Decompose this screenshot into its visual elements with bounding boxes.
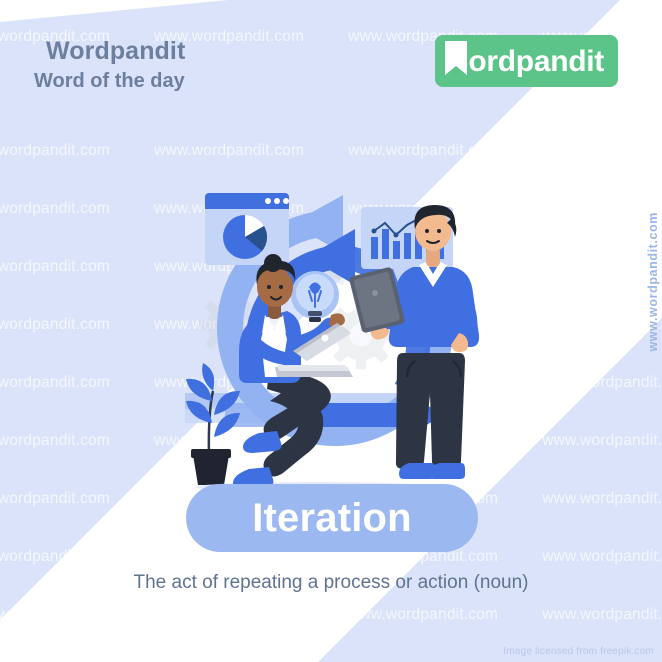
side-watermark: www.wordpandit.com (646, 212, 660, 352)
wordpandit-logo[interactable]: ordpandit (435, 35, 618, 87)
logo-wordmark: ordpandit (468, 47, 604, 77)
header-title-block: Wordpandit Word of the day (46, 38, 185, 92)
word-text: Iteration (252, 498, 412, 538)
page-title: Wordpandit (46, 38, 185, 66)
word-definition: The act of repeating a process or action… (0, 572, 662, 594)
pie-chart-window (205, 193, 289, 265)
page-subtitle: Word of the day (34, 70, 185, 92)
word-badge[interactable]: Iteration (186, 484, 478, 552)
lightbulb-icon (291, 271, 339, 322)
image-credit: Image licensed from freepik.com (503, 646, 654, 657)
iteration-cycle-illustration (165, 175, 505, 500)
bookmark-icon (445, 41, 467, 81)
word-of-the-day-poster: www.wordpandit.com www.wordpandit.com ww… (0, 0, 662, 662)
